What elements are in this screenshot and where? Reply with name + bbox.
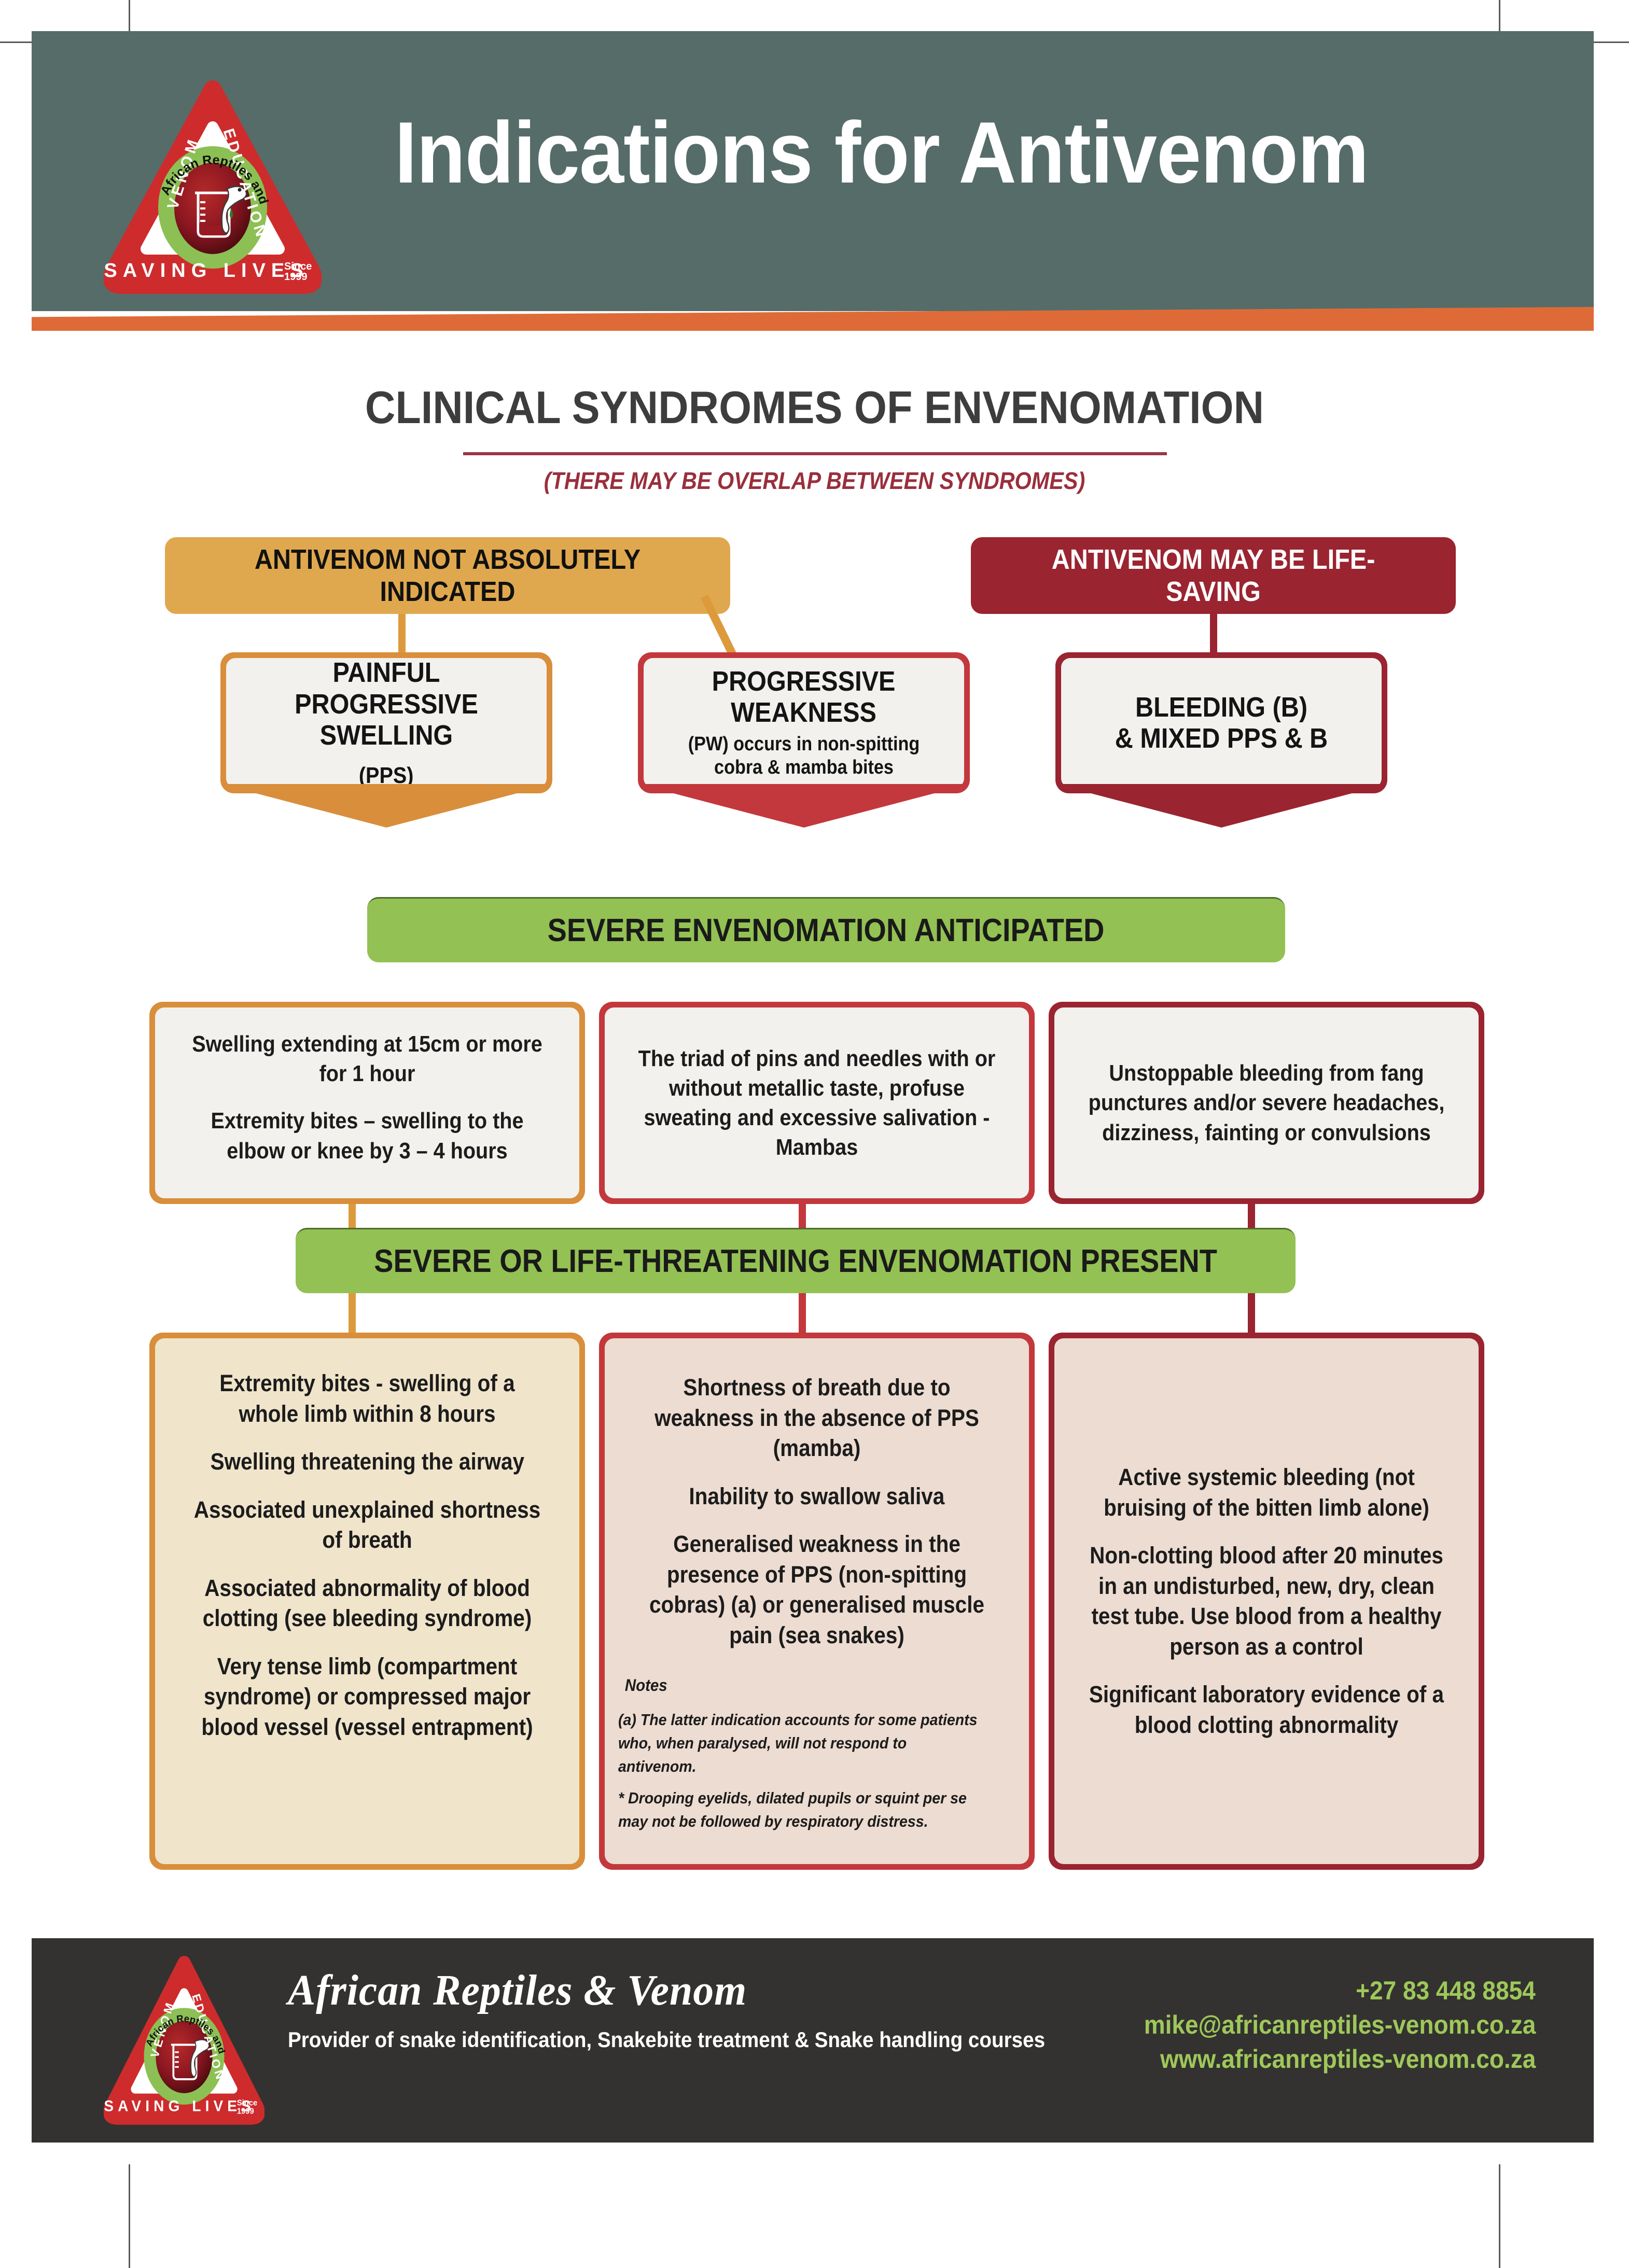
present-card-weakness-inner: Shortness of breath due to weakness in t…	[605, 1338, 1029, 1864]
logo-since-year: 1999	[284, 271, 308, 283]
section-divider	[463, 452, 1167, 455]
present-paragraph: Very tense limb (compartment syndrome) o…	[169, 1651, 566, 1743]
logo-since-label: Since	[284, 261, 312, 272]
footer-email[interactable]: mike@africanreptiles-venom.co.za	[1110, 2008, 1536, 2042]
anticipated-card-bleeding[interactable]: Unstoppable bleeding from fang punctures…	[1049, 1002, 1484, 1204]
syndrome-title-line1: PROGRESSIVE WEAKNESS	[702, 666, 906, 729]
connector-darkred-row3	[1248, 1293, 1255, 1336]
present-card-weakness[interactable]: Shortness of breath due to weakness in t…	[599, 1333, 1035, 1870]
anticipated-paragraph: Extremity bites – swelling to the elbow …	[169, 1106, 566, 1165]
present-card-swelling-inner: Extremity bites - swelling of a whole li…	[155, 1338, 579, 1864]
anticipated-card-bleeding-inner: Unstoppable bleeding from fang punctures…	[1054, 1007, 1479, 1198]
footer-contact-block: +27 83 448 8854 mike@africanreptiles-ven…	[1110, 1973, 1536, 2076]
syndrome-card-pw-inner: PROGRESSIVE WEAKNESS (PW) occurs in non-…	[644, 658, 964, 788]
connector-orange-left	[398, 614, 406, 653]
present-paragraph: Extremity bites - swelling of a whole li…	[169, 1368, 566, 1429]
banner-severe-anticipated-label: SEVERE ENVENOMATION ANTICIPATED	[548, 912, 1105, 949]
chevron-pw	[638, 784, 970, 828]
syndrome-card-pps-inner: PAINFUL PROGRESSIVE SWELLING (PPS)	[226, 658, 547, 788]
notes-block: Notes (a) The latter indication accounts…	[618, 1673, 1015, 1842]
section-title: CLINICAL SYNDROMES OF ENVENOMATION	[65, 381, 1564, 434]
section-subtitle: (THERE MAY BE OVERLAP BETWEEN SYNDROMES)	[81, 467, 1548, 495]
present-card-swelling[interactable]: Extremity bites - swelling of a whole li…	[149, 1333, 585, 1870]
logo-icon: VENOM EDUCATION African Reptiles and Ven…	[104, 78, 322, 301]
logo-since-label: Since	[237, 2098, 257, 2108]
poster-page: Indications for Antivenom	[0, 0, 1629, 2268]
anticipated-card-swelling[interactable]: Swelling extending at 15cm or more for 1…	[149, 1002, 585, 1204]
anticipated-card-triad-inner: The triad of pins and needles with or wi…	[605, 1007, 1029, 1198]
present-paragraph: Significant laboratory evidence of a blo…	[1068, 1679, 1465, 1740]
footer-tagline: Provider of snake identification, Snakeb…	[288, 2027, 1045, 2052]
connector-orange-row3	[349, 1293, 356, 1336]
syndrome-title-line1: BLEEDING (B) & MIXED PPS & B	[1103, 692, 1340, 754]
chevron-pps	[220, 784, 552, 828]
page-title: Indications for Antivenom	[395, 109, 1444, 196]
present-paragraph: Associated abnormality of blood clotting…	[169, 1573, 566, 1634]
banner-severe-anticipated[interactable]: SEVERE ENVENOMATION ANTICIPATED	[367, 897, 1285, 962]
present-paragraph: Generalised weakness in the presence of …	[618, 1529, 1015, 1650]
banner-not-indicated-label: ANTIVENOM NOT ABSOLUTELY INDICATED	[207, 543, 688, 608]
syndrome-title-line1: PAINFUL PROGRESSIVE SWELLING	[240, 657, 533, 751]
connector-darkred-right	[1210, 614, 1217, 653]
brand-logo: VENOM EDUCATION African Reptiles and Ven…	[104, 78, 322, 301]
present-paragraph: Shortness of breath due to weakness in t…	[618, 1373, 1015, 1464]
anticipated-paragraph: Unstoppable bleeding from fang punctures…	[1068, 1058, 1465, 1147]
present-card-bleeding-inner: Active systemic bleeding (not bruising o…	[1054, 1338, 1479, 1864]
notes-line: (a) The latter indication accounts for s…	[618, 1709, 984, 1779]
anticipated-paragraph: The triad of pins and needles with or wi…	[618, 1044, 1015, 1163]
syndrome-card-pw[interactable]: PROGRESSIVE WEAKNESS (PW) occurs in non-…	[638, 652, 970, 793]
banner-severe-present[interactable]: SEVERE OR LIFE-THREATENING ENVENOMATION …	[296, 1228, 1296, 1293]
notes-line: * Drooping eyelids, dilated pupils or sq…	[618, 1787, 984, 1833]
syndrome-card-pps[interactable]: PAINFUL PROGRESSIVE SWELLING (PPS)	[220, 652, 552, 793]
footer-phone[interactable]: +27 83 448 8854	[1110, 1973, 1536, 2008]
footer-brand-name: African Reptiles & Venom	[288, 1965, 747, 2015]
banner-life-saving[interactable]: ANTIVENOM MAY BE LIFE-SAVING	[971, 537, 1456, 614]
present-card-bleeding[interactable]: Active systemic bleeding (not bruising o…	[1049, 1333, 1484, 1870]
present-paragraph: Non-clotting blood after 20 minutes in a…	[1068, 1541, 1465, 1662]
crop-mark-bottom-right-v	[1499, 2164, 1500, 2268]
crop-mark-bottom-left-v	[129, 2164, 130, 2268]
present-paragraph: Active systemic bleeding (not bruising o…	[1068, 1462, 1465, 1523]
logo-icon: VENOM EDUCATION African Reptiles and Ven…	[104, 1954, 264, 2130]
footer-logo: VENOM EDUCATION African Reptiles and Ven…	[104, 1954, 264, 2130]
footer-website[interactable]: www.africanreptiles-venom.co.za	[1110, 2042, 1536, 2076]
logo-since-year: 1999	[237, 2107, 254, 2116]
banner-severe-present-label: SEVERE OR LIFE-THREATENING ENVENOMATION …	[374, 1243, 1217, 1280]
present-paragraph: Inability to swallow saliva	[675, 1481, 959, 1512]
syndrome-note: (PW) occurs in non-spitting cobra & mamb…	[659, 733, 949, 780]
syndrome-card-bleeding[interactable]: BLEEDING (B) & MIXED PPS & B	[1055, 652, 1387, 793]
notes-heading: Notes	[618, 1673, 984, 1697]
anticipated-paragraph: Swelling extending at 15cm or more for 1…	[169, 1029, 566, 1088]
present-paragraph: Swelling threatening the airway	[193, 1447, 542, 1477]
banner-life-saving-label: ANTIVENOM MAY BE LIFE-SAVING	[1009, 543, 1418, 608]
chevron-bleeding	[1055, 784, 1387, 828]
present-paragraph: Associated unexplained shortness of brea…	[169, 1495, 566, 1556]
banner-not-indicated[interactable]: ANTIVENOM NOT ABSOLUTELY INDICATED	[165, 537, 730, 614]
anticipated-card-triad[interactable]: The triad of pins and needles with or wi…	[599, 1002, 1035, 1204]
syndrome-card-bleeding-inner: BLEEDING (B) & MIXED PPS & B	[1061, 658, 1382, 788]
logo-saving-lives-text: SAVING LIVES	[104, 2098, 255, 2115]
logo-saving-lives-text: SAVING LIVES	[104, 260, 309, 282]
connector-red-row3	[799, 1293, 806, 1336]
anticipated-card-swelling-inner: Swelling extending at 15cm or more for 1…	[155, 1007, 579, 1198]
